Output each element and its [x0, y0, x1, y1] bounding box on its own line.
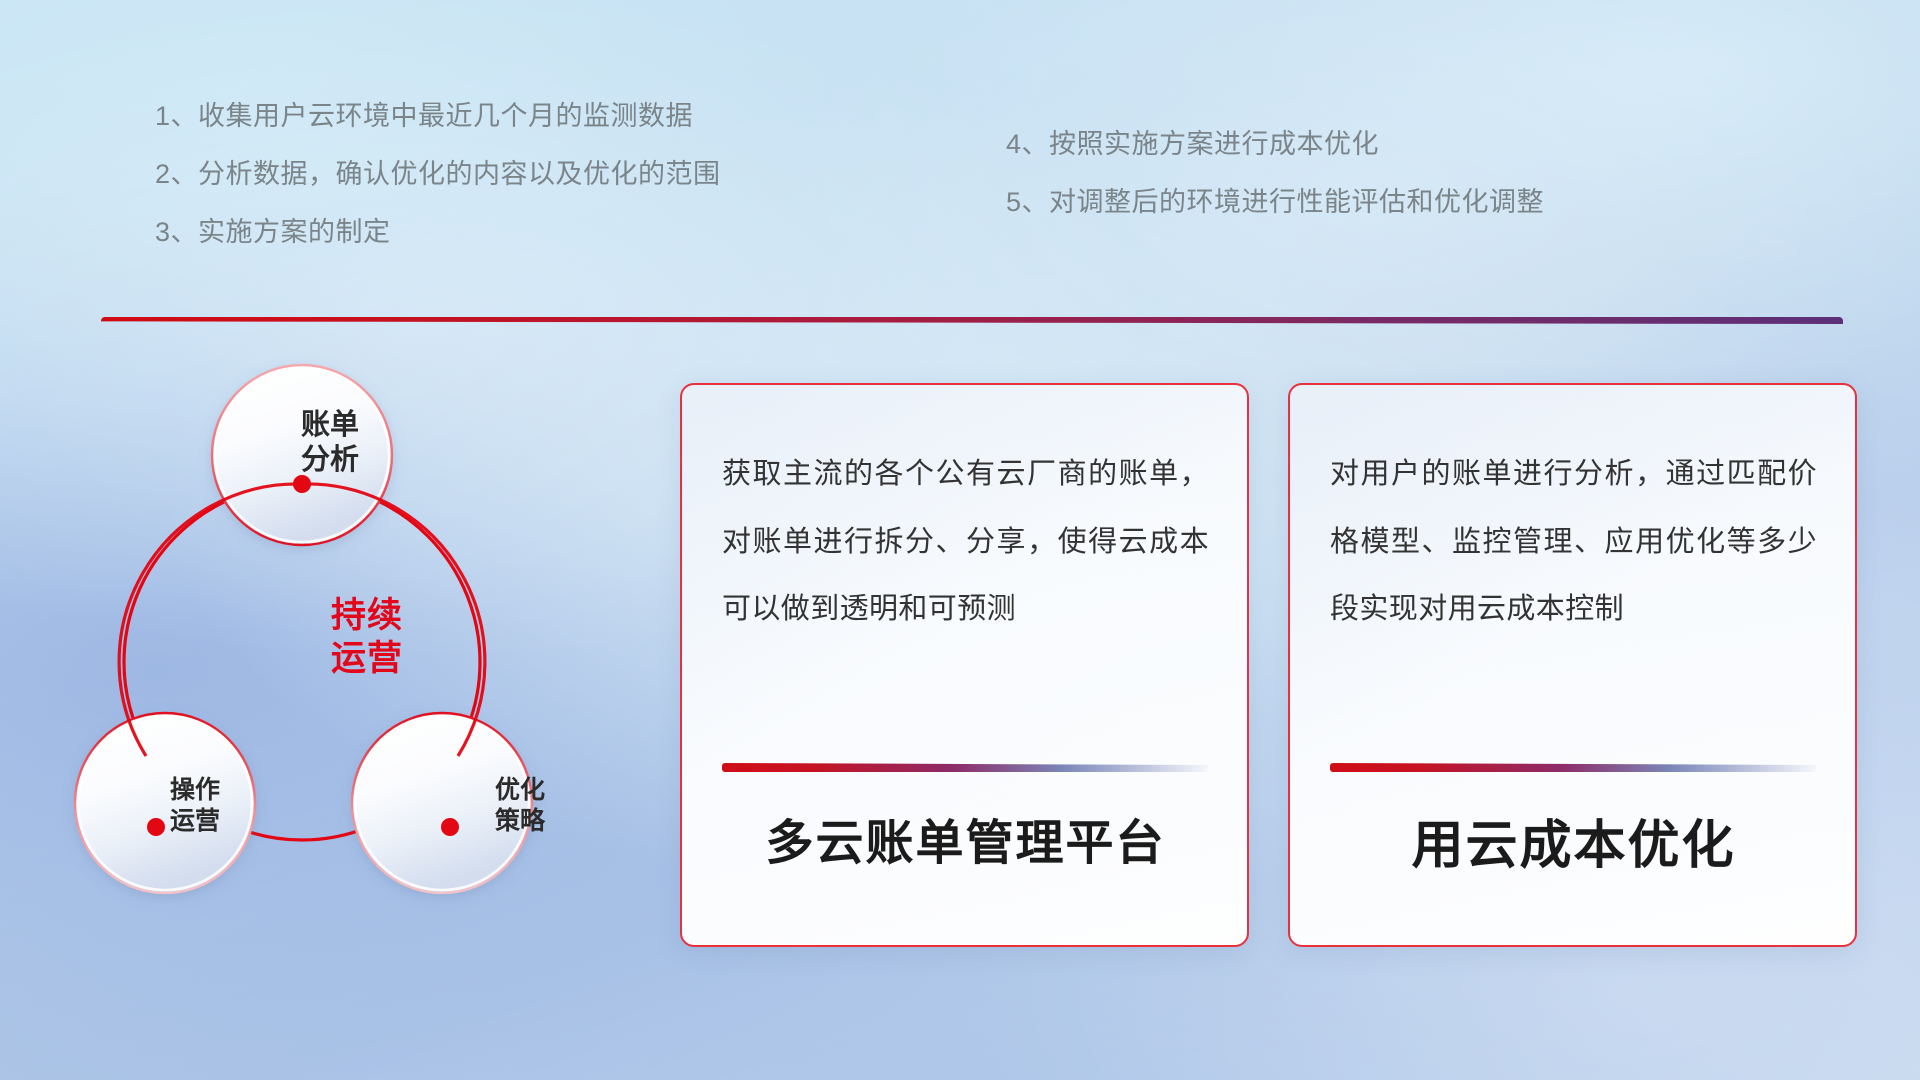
- card-title: 用云成本优化: [1330, 803, 1817, 878]
- card-title: 多云账单管理平台: [722, 803, 1209, 873]
- venn-label-bottom-right-line1: 优化: [450, 775, 590, 806]
- card-divider: [722, 763, 1208, 772]
- venn-label-top-line1: 账单: [255, 408, 405, 443]
- venn-label-bottom-right: 优化 策略: [450, 775, 590, 836]
- venn-label-bottom-left-line1: 操作: [125, 775, 265, 806]
- card-body-text: 对用户的账单进行分析，通过匹配价格模型、监控管理、应用优化等多少段实现对用云成本…: [1330, 441, 1817, 644]
- venn-label-top-line2: 分析: [255, 443, 405, 478]
- venn-label-bottom-left-line2: 运营: [125, 806, 265, 837]
- feature-card-bill-platform[interactable]: 获取主流的各个公有云厂商的账单，对账单进行拆分、分享，使得云成本可以做到透明和可…: [680, 383, 1249, 947]
- venn-label-bottom-right-line2: 策略: [450, 806, 590, 837]
- venn-label-center-line2: 运营: [292, 638, 442, 681]
- venn-label-bottom-left: 操作 运营: [125, 775, 265, 836]
- feature-card-cost-optimization[interactable]: 对用户的账单进行分析，通过匹配价格模型、监控管理、应用优化等多少段实现对用云成本…: [1288, 383, 1857, 947]
- card-body-text: 获取主流的各个公有云厂商的账单，对账单进行拆分、分享，使得云成本可以做到透明和可…: [722, 441, 1209, 644]
- card-divider: [1330, 763, 1816, 772]
- venn-label-center-line1: 持续: [292, 595, 442, 638]
- venn-label-center: 持续 运营: [292, 595, 442, 680]
- venn-label-top: 账单 分析: [255, 408, 405, 479]
